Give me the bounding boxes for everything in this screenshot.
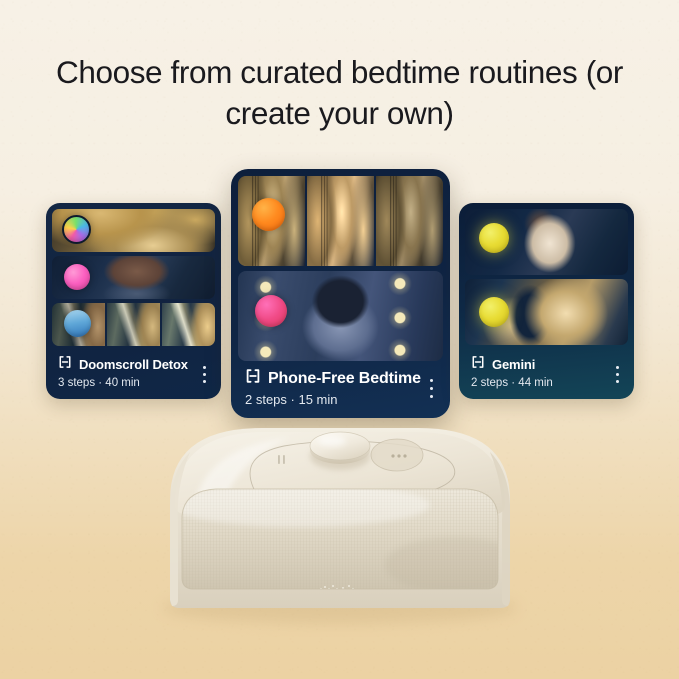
routine-step-dot-pink — [64, 264, 90, 290]
kebab-menu-icon[interactable] — [610, 366, 624, 383]
artwork-light-streak-b — [107, 303, 160, 346]
routine-bracket-icon — [58, 355, 72, 374]
routine-card-list: Doomscroll Detox 3 steps · 40 min — [0, 0, 679, 679]
routine-title: Gemini — [492, 357, 535, 372]
kebab-menu-icon[interactable] — [424, 379, 438, 398]
routine-step-dot-orange — [252, 198, 285, 231]
artwork-golden-folds — [376, 176, 443, 266]
routine-thumbnail — [52, 209, 215, 252]
routine-title: Phone-Free Bedtime — [268, 370, 421, 388]
routine-card-footer: Doomscroll Detox 3 steps · 40 min — [46, 355, 221, 399]
routine-thumbnail — [238, 176, 443, 266]
routine-step-dot-blue — [64, 310, 91, 337]
routine-thumbnail-stack — [231, 169, 450, 363]
routine-step-dot-rainbow — [62, 215, 91, 244]
artwork-golden-abstract — [307, 176, 374, 266]
routine-bracket-icon — [471, 355, 485, 374]
routine-thumbnail — [465, 279, 628, 345]
routine-card-gemini[interactable]: Gemini 2 steps · 44 min — [459, 203, 634, 399]
routine-card-phone-free-bedtime[interactable]: Phone-Free Bedtime 2 steps · 15 min — [231, 169, 450, 418]
routine-thumbnail — [465, 209, 628, 275]
artwork-light-streak-c — [162, 303, 215, 346]
routine-step-dot-yellow — [479, 223, 509, 253]
routine-meta: 2 steps · 15 min — [245, 392, 436, 407]
routine-card-footer: Phone-Free Bedtime 2 steps · 15 min — [231, 368, 450, 418]
kebab-menu-icon[interactable] — [197, 366, 211, 383]
routine-thumbnail — [52, 256, 215, 299]
routine-step-dot-yellow — [479, 297, 509, 327]
routine-title: Doomscroll Detox — [79, 357, 188, 372]
routine-meta: 2 steps · 44 min — [471, 377, 622, 389]
routine-thumbnail-stack — [46, 203, 221, 346]
routine-thumbnail-stack — [459, 203, 634, 346]
routine-card-footer: Gemini 2 steps · 44 min — [459, 355, 634, 399]
routine-thumbnail — [52, 303, 215, 346]
routine-step-dot-magenta — [255, 295, 287, 327]
routine-card-doomscroll-detox[interactable]: Doomscroll Detox 3 steps · 40 min — [46, 203, 221, 399]
routine-bracket-icon — [245, 368, 261, 389]
routine-meta: 3 steps · 40 min — [58, 377, 209, 389]
routine-thumbnail — [238, 271, 443, 361]
